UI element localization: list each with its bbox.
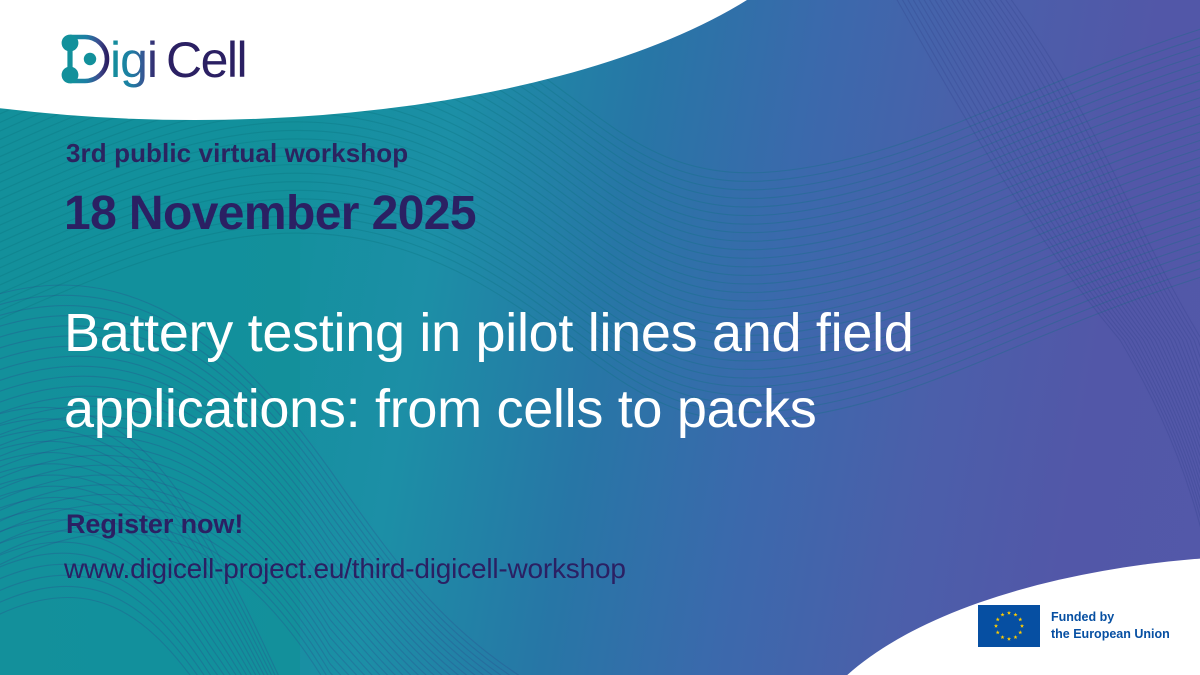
workshop-announcement-banner: igi Cell 3rd public virtual workshop 18 … (0, 0, 1200, 675)
logo-text-digi: igi (110, 32, 157, 88)
event-kicker: 3rd public virtual workshop (66, 138, 408, 169)
logo-text-cell: Cell (166, 32, 246, 88)
event-title: Battery testing in pilot lines and field… (64, 296, 1154, 447)
event-title-line-1: Battery testing in pilot lines and field (64, 296, 1154, 372)
digicell-logo[interactable]: igi Cell (58, 27, 276, 89)
svg-text:igi: igi (110, 32, 157, 88)
eu-funding-badge: Funded by the European Union (978, 605, 1170, 647)
svg-text:Cell: Cell (166, 32, 246, 88)
event-date: 18 November 2025 (64, 186, 476, 241)
event-title-line-2: applications: from cells to packs (64, 372, 1154, 448)
eu-funding-line-1: Funded by (1051, 609, 1170, 626)
eu-flag-icon (978, 605, 1040, 647)
registration-url-link[interactable]: www.digicell-project.eu/third-digicell-w… (64, 553, 626, 585)
eu-funding-line-2: the European Union (1051, 626, 1170, 643)
molecule-cell-icon (62, 35, 97, 84)
register-cta: Register now! (66, 509, 243, 540)
eu-funding-text: Funded by the European Union (1051, 609, 1170, 642)
